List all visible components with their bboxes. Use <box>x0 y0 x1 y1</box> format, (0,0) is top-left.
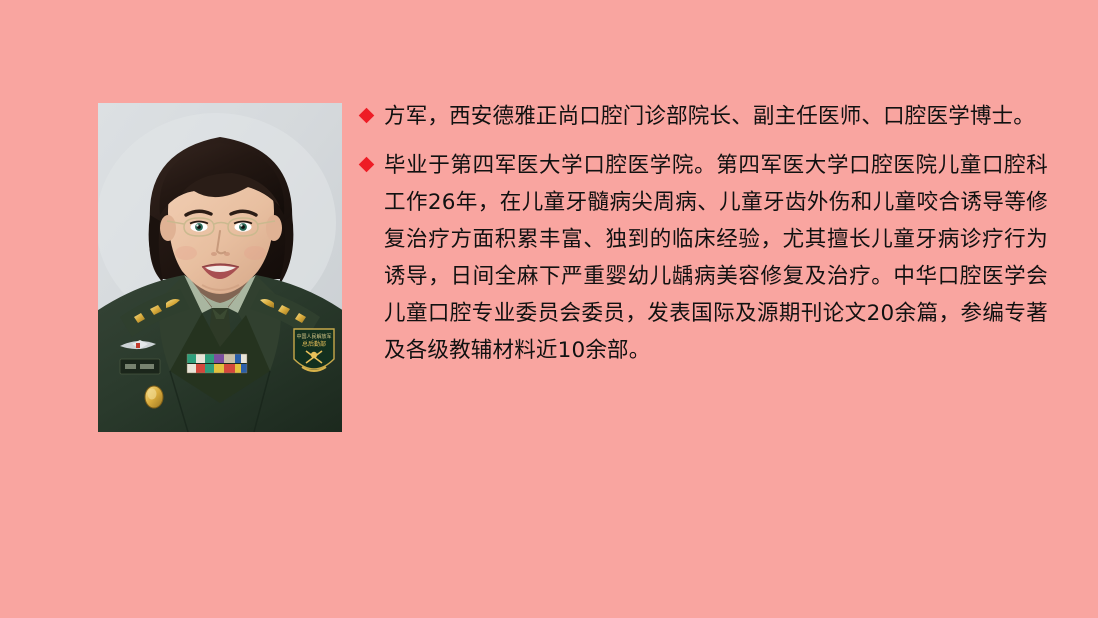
bio-text-1: 方军，西安德雅正尚口腔门诊部院长、副主任医师、口腔医学博士。 <box>384 98 1048 135</box>
red-diamond-bullet-icon <box>358 147 384 170</box>
bullet-item-1: 方军，西安德雅正尚口腔门诊部院长、副主任医师、口腔医学博士。 <box>358 98 1048 135</box>
svg-text:中国人民解放军: 中国人民解放军 <box>296 333 331 340</box>
portrait-illustration: 中国人民解放军 总后勤部 <box>98 103 342 432</box>
portrait-photo: 中国人民解放军 总后勤部 <box>98 103 342 432</box>
red-diamond-bullet-icon <box>358 98 384 121</box>
bio-text-2: 毕业于第四军医大学口腔医学院。第四军医大学口腔医院儿童口腔科工作26年，在儿童牙… <box>384 147 1048 369</box>
svg-text:总后勤部: 总后勤部 <box>302 340 326 348</box>
bio-bullet-list: 方军，西安德雅正尚口腔门诊部院长、副主任医师、口腔医学博士。 毕业于第四军医大学… <box>358 98 1048 381</box>
bullet-item-2: 毕业于第四军医大学口腔医学院。第四军医大学口腔医院儿童口腔科工作26年，在儿童牙… <box>358 147 1048 369</box>
slide-canvas: 中国人民解放军 总后勤部 方军，西安德雅正尚口腔门诊部院长、副主任医师 <box>0 0 1098 618</box>
